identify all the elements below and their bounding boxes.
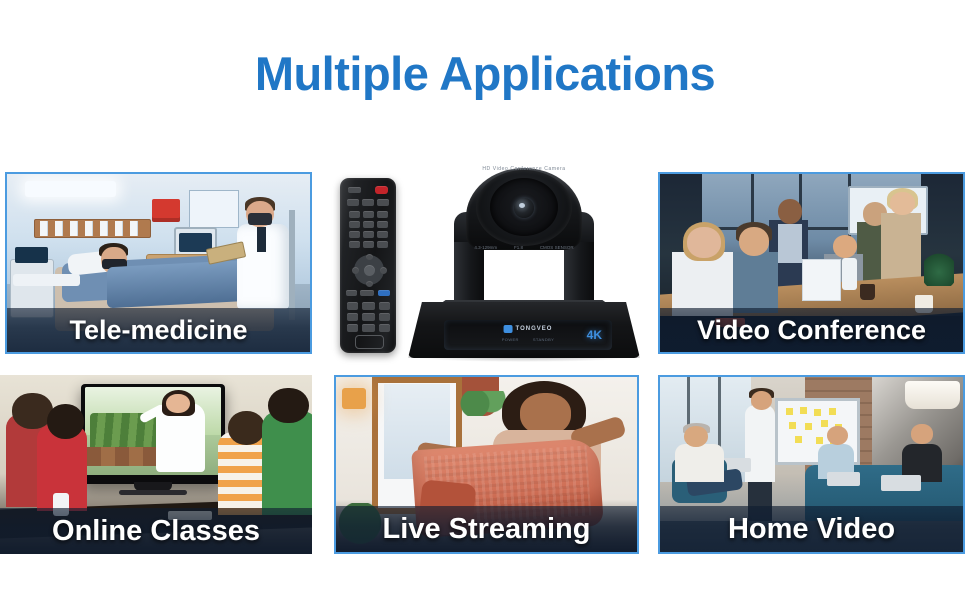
remote-button-menu — [348, 187, 361, 193]
table-tent-card — [802, 259, 840, 300]
tile-caption: Tele-medicine — [7, 308, 310, 352]
tile-video-conference[interactable]: Video Conference — [658, 172, 965, 354]
lens-mark-aperture: F1.8 — [514, 245, 523, 250]
remote-dpad-up — [366, 254, 373, 260]
remote-key-star — [349, 241, 360, 248]
pendant-lamp — [905, 381, 960, 409]
remote-button-preset — [362, 302, 375, 310]
remote-key-2 — [363, 211, 374, 218]
remote-button-focus-far — [379, 313, 390, 321]
remote-control — [340, 178, 396, 353]
television — [81, 384, 225, 484]
remote-button-home — [346, 290, 357, 296]
tile-caption: Home Video — [660, 506, 963, 552]
laptop — [881, 475, 920, 491]
remote-key-4 — [349, 221, 360, 228]
remote-button-1 — [347, 199, 359, 206]
remote-key-1 — [349, 211, 360, 218]
tile-home-video[interactable]: Home Video — [658, 375, 965, 554]
remote-key-3 — [377, 211, 388, 218]
remote-button-back — [360, 290, 374, 296]
tile-live-streaming[interactable]: Live Streaming — [334, 375, 639, 554]
tile-tele-medicine[interactable]: Tele-medicine — [5, 172, 312, 354]
resolution-badge: 4K — [587, 328, 602, 342]
lens-mark-sensor: CMOS SENSOR — [540, 245, 574, 250]
remote-brand-mark — [355, 335, 384, 349]
camera-lens-glass — [514, 198, 534, 218]
tile-caption: Online Classes — [0, 508, 312, 554]
wall-chart-board — [34, 219, 151, 239]
sharps-container — [152, 199, 179, 222]
ptz-camera: HD Video Conference Camera 4.3-129mm F1.… — [404, 162, 644, 358]
remote-dpad-right — [380, 267, 387, 274]
remote-dpad-down — [366, 281, 373, 287]
remote-button-zoom-out — [379, 302, 390, 310]
tongveo-logo-icon — [504, 325, 513, 333]
camera-brand-logo: TONGVEO — [504, 325, 553, 333]
remote-key-0 — [363, 241, 374, 248]
camera-indicator-labels: POWER STANDBY — [502, 337, 555, 342]
remote-power-button — [375, 186, 388, 194]
indicator-standby: STANDBY — [533, 337, 554, 342]
remote-button-menu-blue — [378, 290, 390, 296]
remote-key-9 — [377, 231, 388, 238]
camera-brand-name: TONGVEO — [516, 326, 553, 332]
remote-key-hash — [377, 241, 388, 248]
tile-caption: Video Conference — [660, 308, 963, 352]
camera-base: TONGVEO POWER STANDBY 4K — [408, 302, 640, 358]
laptop — [827, 472, 860, 486]
remote-key-7 — [349, 231, 360, 238]
remote-button-set — [362, 324, 375, 332]
remote-key-5 — [363, 221, 374, 228]
tile-caption: Live Streaming — [336, 506, 637, 552]
lens-mark-focal: 4.3-129mm — [474, 245, 497, 250]
doctor-face-mask — [248, 213, 272, 225]
application-showcase: Multiple Applications — [0, 0, 970, 600]
remote-ok-button — [364, 265, 375, 276]
tile-online-classes[interactable]: Online Classes — [0, 375, 312, 554]
wall-lamp — [342, 388, 366, 409]
remote-button-3 — [377, 199, 389, 206]
camera-front-panel: TONGVEO POWER STANDBY 4K — [444, 320, 612, 350]
remote-dpad-left — [352, 267, 359, 274]
camera-lens-glint — [519, 203, 525, 208]
remote-button-focus-near — [347, 313, 358, 321]
remote-button-reset — [347, 324, 358, 332]
tv-screen — [85, 387, 221, 475]
camera-shadow — [414, 352, 634, 362]
remote-button-zoom-in — [347, 302, 358, 310]
camera-lens-marks: 4.3-129mm F1.8 CMOS SENSOR — [466, 245, 582, 250]
wall-poster — [189, 190, 239, 228]
remote-key-6 — [377, 221, 388, 228]
remote-button-call — [362, 313, 375, 321]
page-title: Multiple Applications — [0, 46, 970, 101]
remote-key-8 — [363, 231, 374, 238]
remote-button-2 — [362, 199, 374, 206]
indicator-power: POWER — [502, 337, 519, 342]
remote-button-pip — [379, 324, 390, 332]
